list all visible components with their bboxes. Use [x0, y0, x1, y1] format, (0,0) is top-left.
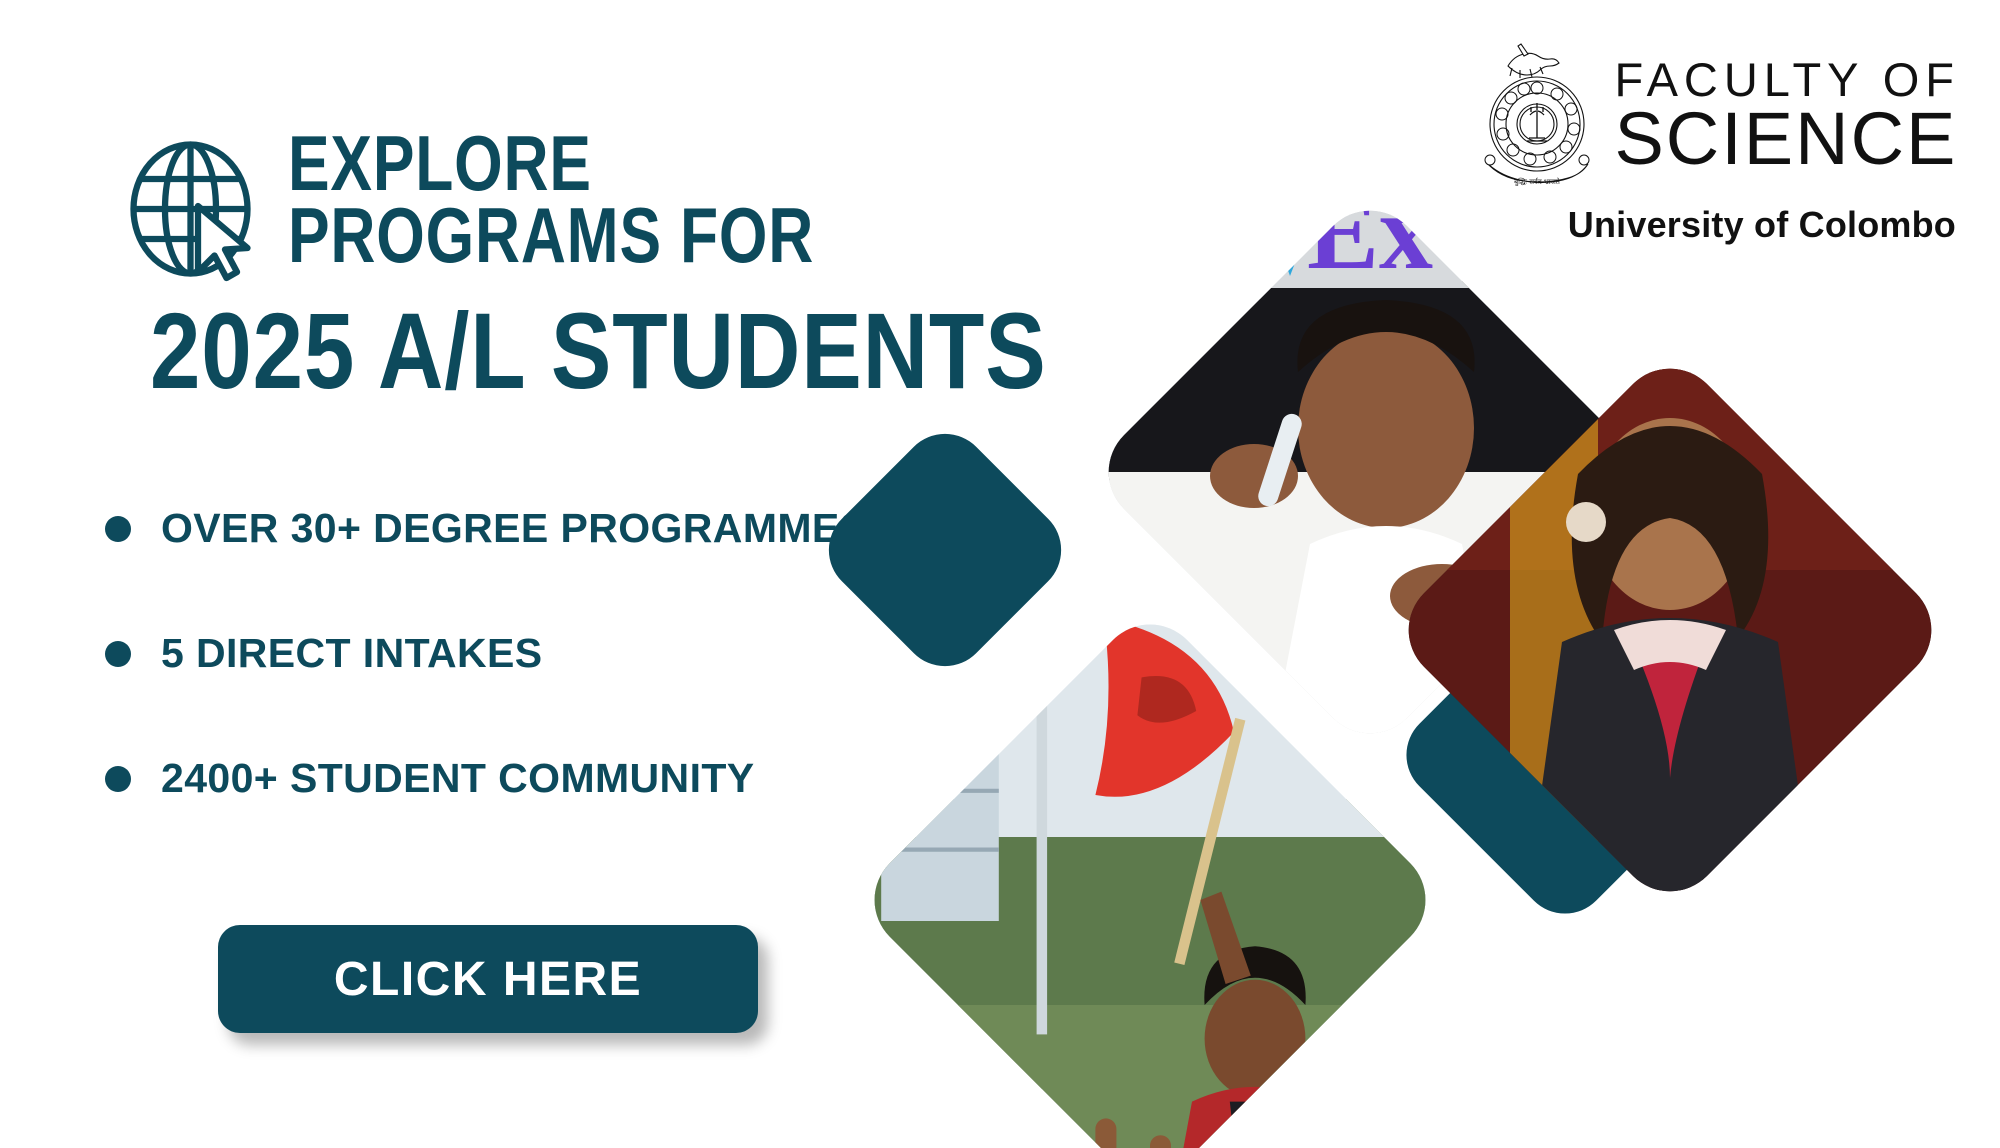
- feature-list: OVER 30+ DEGREE PROGRAMMES 5 DIRECT INTA…: [105, 505, 935, 880]
- list-item: OVER 30+ DEGREE PROGRAMMES: [105, 505, 935, 552]
- svg-text:Ex: Ex: [1307, 189, 1433, 292]
- headline-block: EXPLORE PROGRAMS FOR: [120, 128, 946, 284]
- cta-container: CLICK HERE: [218, 925, 758, 1033]
- globe-cursor-icon: [120, 134, 270, 284]
- left-content: EXPLORE PROGRAMS FOR 2025 A/L STUDENTS O…: [0, 0, 980, 1148]
- list-item: 2400+ STUDENT COMMUNITY: [105, 755, 935, 802]
- promo-banner: बुद्धिः सर्वत्र भ्राजते FACULTY OF SCIEN…: [0, 0, 2000, 1148]
- headline-line-3: 2025 A/L STUDENTS: [150, 300, 1047, 403]
- bullet-dot-icon: [105, 641, 131, 667]
- headline-line-1: EXPLORE: [288, 128, 814, 200]
- headline-lines: EXPLORE PROGRAMS FOR: [288, 128, 946, 272]
- bullet-dot-icon: [105, 516, 131, 542]
- list-item-label: 5 DIRECT INTAKES: [161, 630, 543, 677]
- bullet-dot-icon: [105, 766, 131, 792]
- headline-line-2: PROGRAMS FOR: [288, 200, 814, 272]
- photo-collage: Ex: [960, 0, 2000, 1148]
- list-item-label: OVER 30+ DEGREE PROGRAMMES: [161, 505, 867, 552]
- list-item: 5 DIRECT INTAKES: [105, 630, 935, 677]
- click-here-button[interactable]: CLICK HERE: [218, 925, 758, 1033]
- list-item-label: 2400+ STUDENT COMMUNITY: [161, 755, 755, 802]
